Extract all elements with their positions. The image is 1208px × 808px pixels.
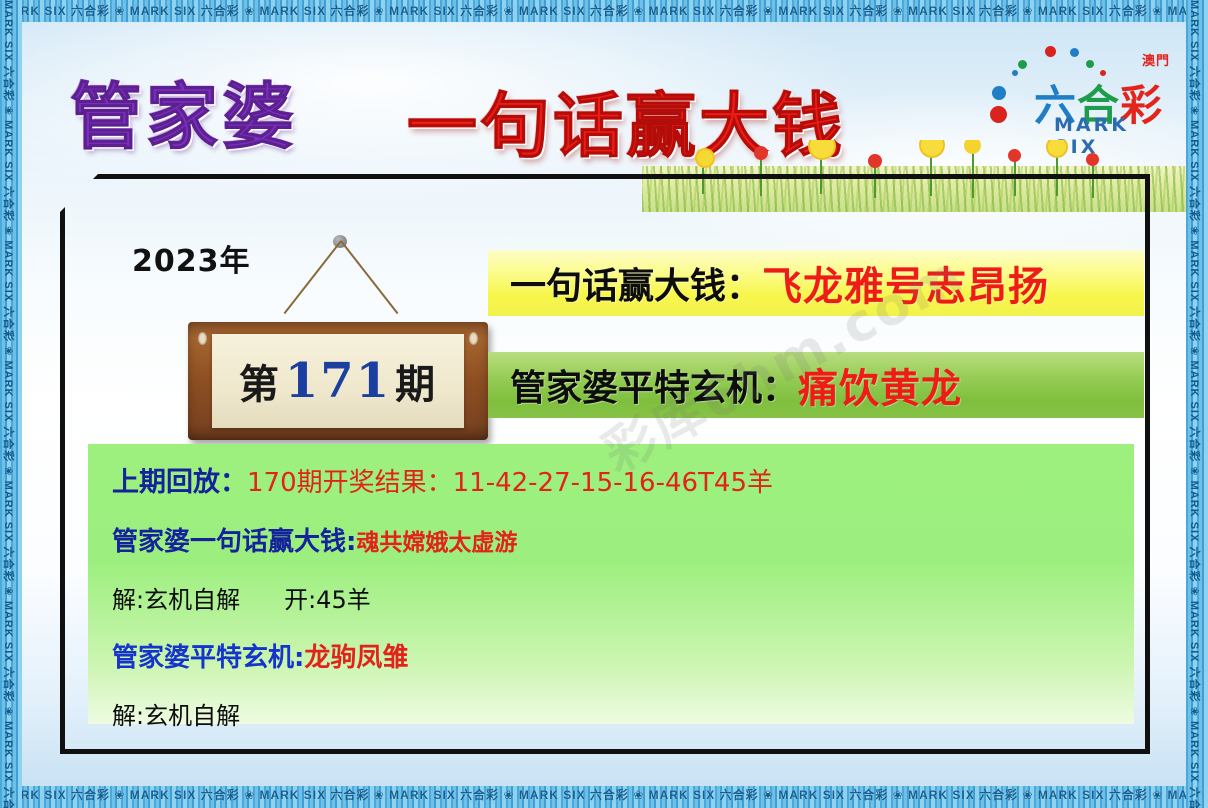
logo-dot-small-blue	[1012, 70, 1018, 76]
explanation-one-value: 开:45羊	[284, 580, 371, 615]
logo-dot-green2	[1086, 60, 1094, 68]
flower-yellow-icon	[810, 140, 834, 158]
panel-row-one-sentence: 管家婆一句话赢大钱: 魂共嫦娥太虚游	[112, 521, 1110, 558]
plaque-hole-left-icon	[198, 332, 207, 345]
issue-number-display: 第 171 期	[212, 334, 464, 428]
sign-rope-left	[284, 240, 342, 314]
wooden-plaque: 第 171 期	[188, 322, 488, 440]
hanging-sign: 第 171 期	[172, 217, 502, 447]
poster-title-main: 管家婆	[70, 58, 298, 163]
flower-red-icon	[754, 146, 768, 160]
banner-green-value: 痛饮黄龙	[798, 356, 962, 414]
panel-row-explanation-one: 解:玄机自解 开:45羊	[112, 580, 1110, 615]
border-strip-bottom-text: MARK SIX 六合彩 ❀ MARK SIX 六合彩 ❀ MARK SIX 六…	[0, 784, 1208, 806]
one-sentence-value: 魂共嫦娥太虚游	[356, 523, 517, 557]
logo-dot-green	[1018, 60, 1027, 69]
flower-red-icon	[1008, 149, 1021, 162]
banner-yellow-value: 飞龙雅号志昂扬	[762, 254, 1049, 312]
flower-yellow-icon	[964, 140, 981, 154]
poster-canvas: MARK SIX 六合彩 ❀ MARK SIX 六合彩 ❀ MARK SIX 六…	[0, 0, 1208, 808]
logo-region-label: 澳門	[1142, 50, 1170, 69]
explanation-one-label: 解:玄机自解	[112, 580, 240, 615]
issue-prefix: 第	[239, 352, 281, 410]
flower-yellow-icon	[921, 140, 943, 156]
one-sentence-label: 管家婆一句话赢大钱:	[112, 521, 356, 558]
logo-dot-blue2	[1070, 48, 1079, 57]
banner-green-label: 管家婆平特玄机：	[510, 359, 798, 411]
logo-dot-blue	[992, 86, 1006, 100]
pingte-mystery-value: 龙驹凤雏	[304, 637, 408, 674]
border-strip-top: MARK SIX 六合彩 ❀ MARK SIX 六合彩 ❀ MARK SIX 六…	[0, 0, 1208, 22]
logo-dot-red2	[1045, 46, 1056, 57]
border-strip-bottom: MARK SIX 六合彩 ❀ MARK SIX 六合彩 ❀ MARK SIX 六…	[0, 784, 1208, 808]
plaque-paper: 第 171 期	[212, 334, 464, 428]
mark-six-logo: 澳門 六合彩 MARK SIX	[982, 44, 1172, 140]
panel-row-previous-draw: 上期回放： 170期开奖结果：11-42-27-15-16-46T45羊	[112, 460, 1110, 499]
pingte-mystery-label: 管家婆平特玄机:	[112, 637, 304, 674]
banner-one-sentence-win-big-money: 一句话赢大钱： 飞龙雅号志昂扬	[488, 250, 1144, 316]
logo-dot-red	[990, 106, 1007, 123]
flower-red-icon	[1086, 153, 1099, 166]
flower-yellow-icon	[1048, 140, 1066, 156]
banner-yellow-label: 一句话赢大钱：	[510, 257, 762, 309]
border-strip-right-text: MARK SIX 六合彩 ❀ MARK SIX 六合彩 ❀ MARK SIX 六…	[1186, 0, 1205, 808]
issue-number: 171	[281, 353, 395, 409]
panel-row-explanation-two: 解:玄机自解	[112, 696, 1110, 731]
explanation-two-label: 解:玄机自解	[112, 696, 240, 731]
issue-suffix: 期	[395, 352, 437, 410]
border-strip-left-text: MARK SIX 六合彩 ❀ MARK SIX 六合彩 ❀ MARK SIX 六…	[0, 0, 19, 808]
plaque-hole-right-icon	[469, 332, 478, 345]
previous-draw-value: 170期开奖结果：11-42-27-15-16-46T45羊	[247, 462, 773, 499]
flower-red-icon	[868, 154, 882, 168]
border-strip-top-text: MARK SIX 六合彩 ❀ MARK SIX 六合彩 ❀ MARK SIX 六…	[0, 0, 1208, 22]
panel-row-pingte-mystery: 管家婆平特玄机: 龙驹凤雏	[112, 637, 1110, 674]
results-panel: 上期回放： 170期开奖结果：11-42-27-15-16-46T45羊 管家婆…	[88, 444, 1134, 724]
previous-draw-label: 上期回放：	[112, 460, 247, 499]
border-strip-left: MARK SIX 六合彩 ❀ MARK SIX 六合彩 ❀ MARK SIX 六…	[0, 0, 22, 808]
poster-body: 管家婆 一句话赢大钱 澳門 六合彩 MARK SIX	[22, 22, 1186, 786]
sign-rope-right	[340, 240, 398, 314]
banner-pingte-mystery: 管家婆平特玄机： 痛饮黄龙	[488, 352, 1144, 418]
border-strip-right: MARK SIX 六合彩 ❀ MARK SIX 六合彩 ❀ MARK SIX 六…	[1186, 0, 1208, 808]
flower-yellow-icon	[697, 150, 713, 166]
